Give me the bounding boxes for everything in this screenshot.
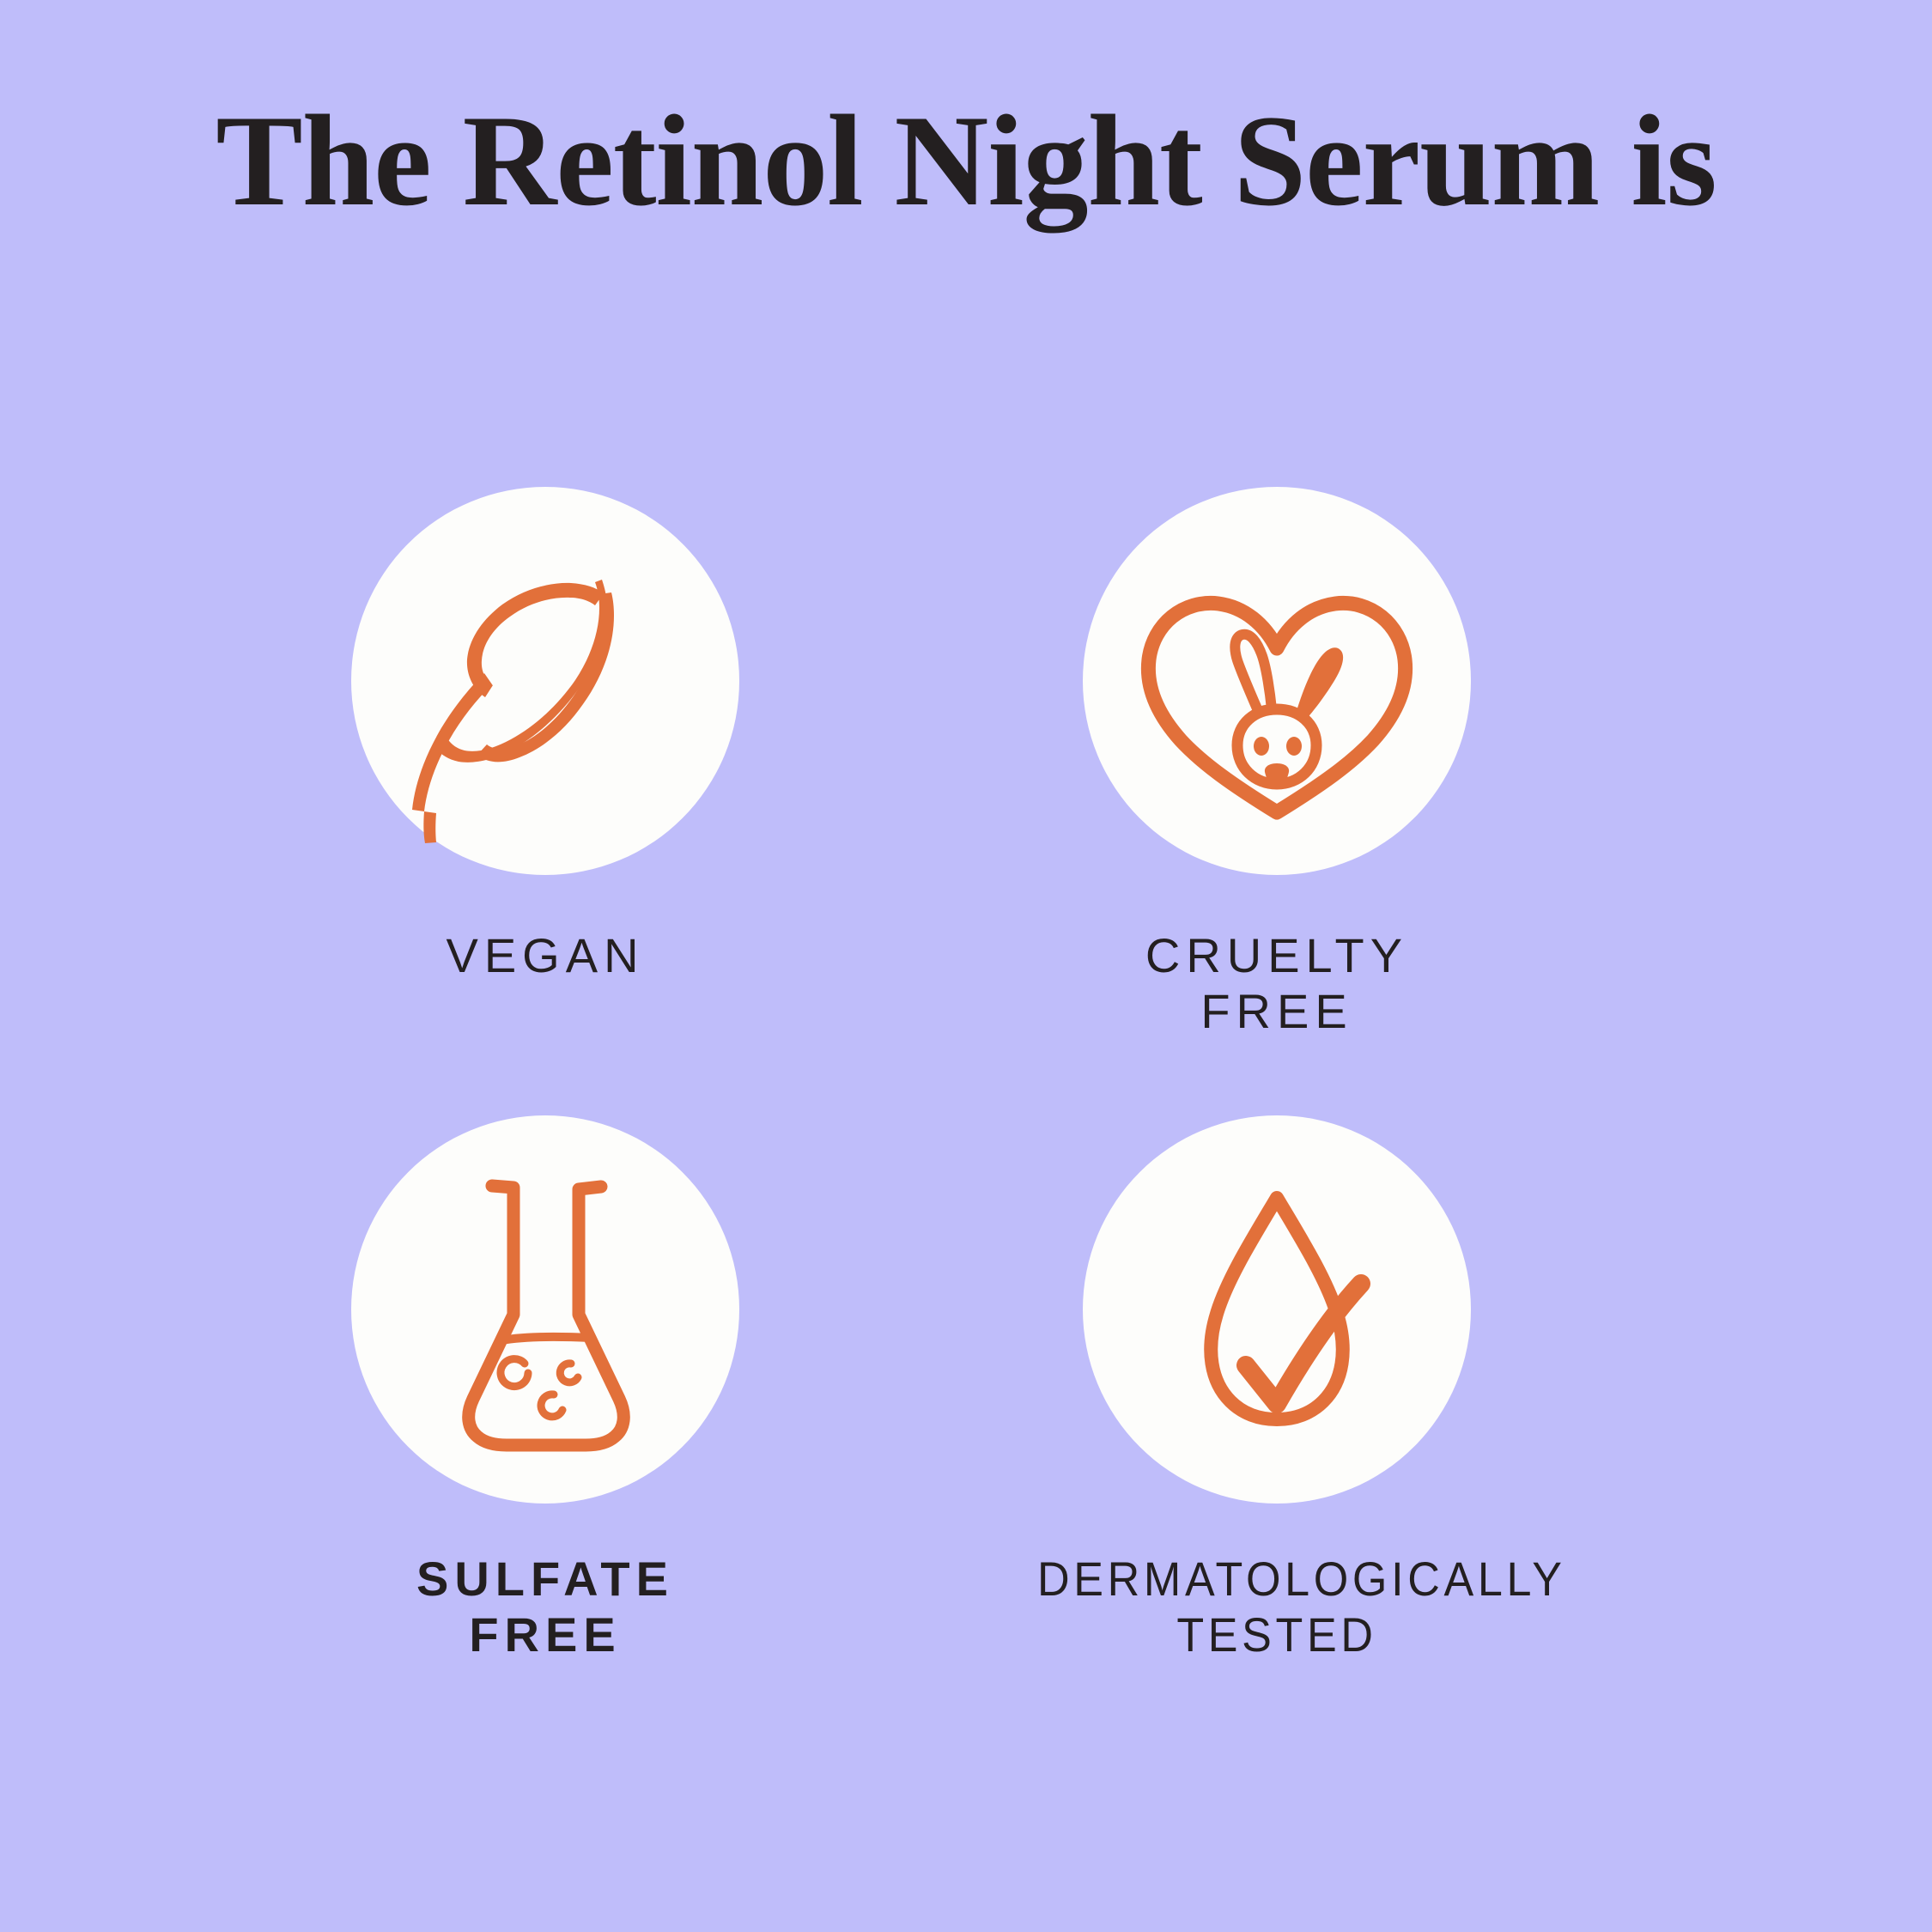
badge-vegan[interactable]: VEGAN <box>288 487 803 984</box>
poster-canvas: The Retinol Night Serum is <box>0 0 1932 1932</box>
badge-disc <box>1083 1115 1471 1504</box>
badge-disc <box>351 487 739 875</box>
badge-cruelty-free[interactable]: CRUELTY FREE <box>1019 487 1534 1040</box>
badge-label: CRUELTY FREE <box>1019 928 1534 1040</box>
leaf-icon <box>351 487 739 875</box>
badge-disc <box>351 1115 739 1504</box>
flask-icon <box>351 1115 739 1504</box>
droplet-check-icon <box>1083 1115 1471 1504</box>
badge-label: VEGAN <box>288 928 803 984</box>
heart-bunny-icon <box>1083 487 1471 875</box>
badge-dermatologically-tested[interactable]: DERMATOLOGICALLY TESTED <box>1019 1115 1534 1663</box>
badge-disc <box>1083 487 1471 875</box>
badge-grid: VEGAN <box>0 0 1932 1932</box>
badge-label: SULFATE FREE <box>288 1552 803 1663</box>
badge-label: DERMATOLOGICALLY TESTED <box>1037 1552 1516 1663</box>
badge-sulfate-free[interactable]: SULFATE FREE <box>288 1115 803 1663</box>
